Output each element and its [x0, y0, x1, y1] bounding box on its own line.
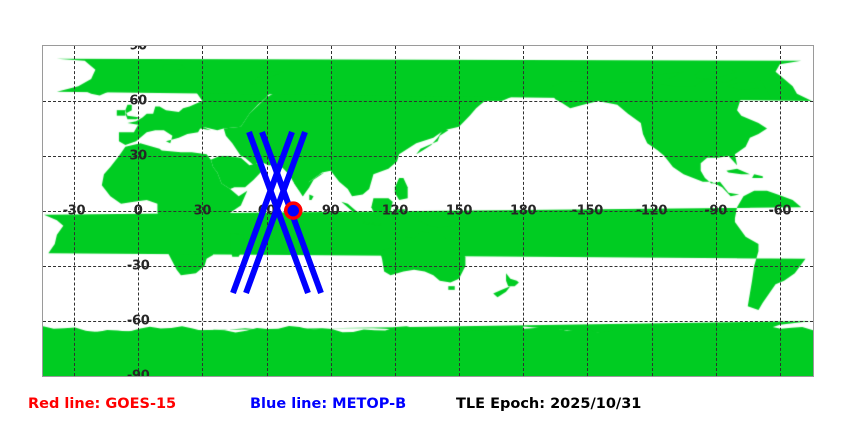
latitude-tick-60: 60	[129, 94, 147, 109]
longitude-tick-60: 60	[258, 204, 276, 219]
latitude-tick--90: -90	[127, 369, 150, 378]
legend-blue-line-metop: Blue line: METOP-B	[250, 396, 406, 412]
legend-bar: Red line: GOES-15 Blue line: METOP-B TLE…	[0, 396, 850, 422]
world-map-plot[interactable]: -300306090120150180-150-120-90-60 906030…	[42, 45, 814, 377]
legend-red-line-goes: Red line: GOES-15	[28, 396, 176, 412]
longitude-tick-30: 30	[194, 204, 212, 219]
longitude-tick-90: 90	[322, 204, 340, 219]
longitude-tick--60: -60	[769, 204, 792, 219]
legend-tle-epoch: TLE Epoch: 2025/10/31	[456, 396, 641, 412]
latitude-tick--60: -60	[127, 314, 150, 329]
longitude-tick--90: -90	[704, 204, 727, 219]
satellite-track-map-page: -300306090120150180-150-120-90-60 906030…	[0, 0, 850, 425]
longitude-tick-120: 120	[382, 204, 408, 219]
latitude-tick-0: 0	[134, 204, 143, 219]
latitude-tick-30: 30	[129, 149, 147, 164]
longitude-tick-180: 180	[510, 204, 536, 219]
longitude-tick--150: -150	[572, 204, 603, 219]
longitude-tick--120: -120	[636, 204, 667, 219]
longitude-tick--30: -30	[63, 204, 86, 219]
latitude-tick-90: 90	[129, 45, 147, 54]
world-map-landmass	[43, 46, 813, 376]
longitude-tick-150: 150	[446, 204, 472, 219]
latitude-tick--30: -30	[127, 259, 150, 274]
